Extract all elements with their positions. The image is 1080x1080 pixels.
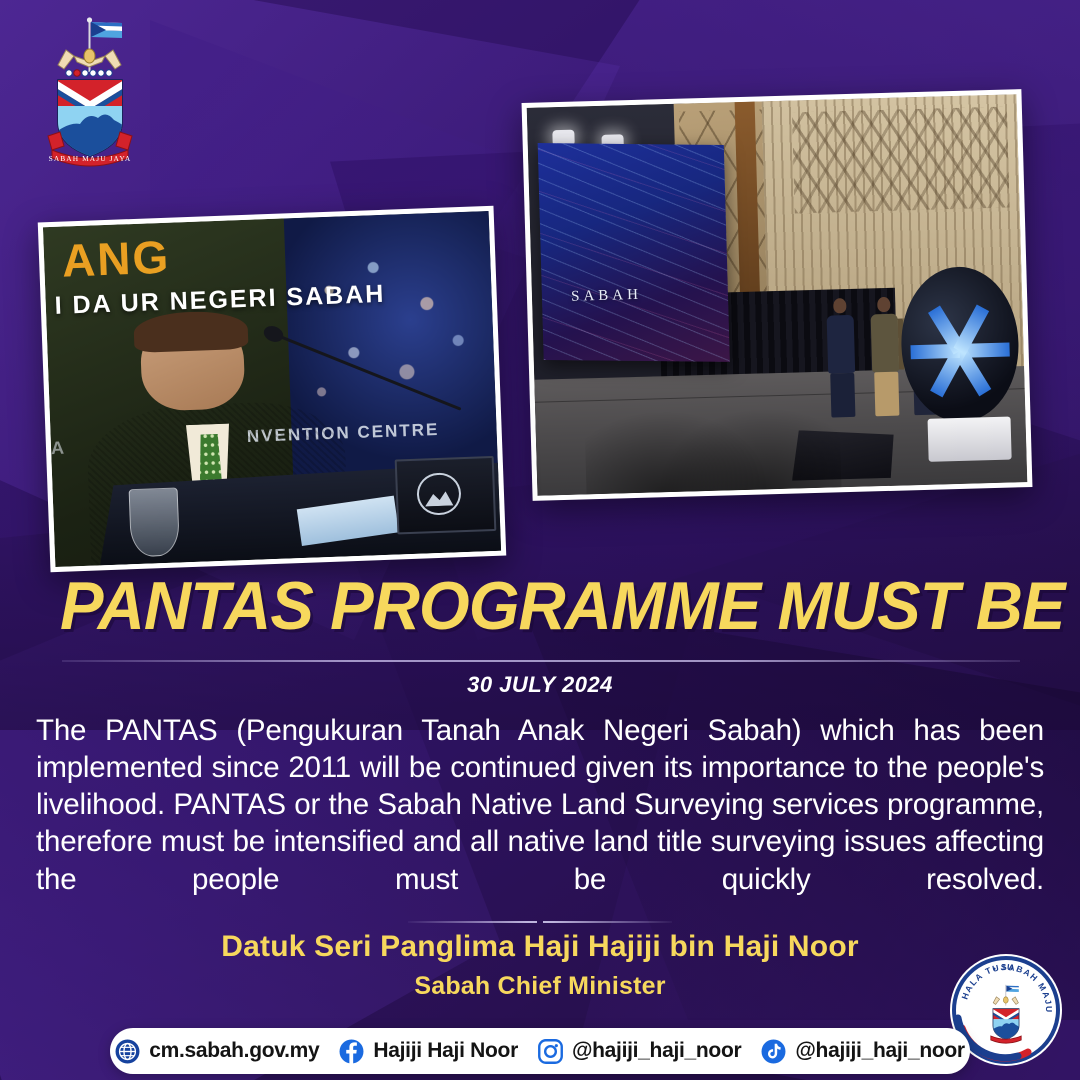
tiktok-icon: [761, 1039, 786, 1064]
globe-icon: [115, 1039, 140, 1064]
footer-label-instagram: @hajiji_haji_noor: [572, 1039, 741, 1063]
water-glass: [128, 488, 180, 558]
crest-motto: SABAH MAJU JAYA: [49, 154, 132, 163]
facebook-icon: [339, 1039, 364, 1064]
quote-body: The PANTAS (Pengukuran Tanah Anak Negeri…: [36, 712, 1044, 935]
backdrop-top-text: ANG: [61, 223, 357, 288]
footer-label-tiktok: @hajiji_haji_noor: [795, 1039, 964, 1063]
publish-date: 30 JULY 2024: [0, 672, 1080, 698]
footer-label-facebook: Hajiji Haji Noor: [373, 1039, 518, 1063]
quote-paragraph: The PANTAS (Pengukuran Tanah Anak Negeri…: [36, 712, 1044, 935]
attribution-name: Datuk Seri Panglima Haji Hajiji bin Haji…: [0, 930, 1080, 964]
headline-divider: [62, 660, 1020, 662]
attribution-divider: [408, 921, 672, 923]
led-screen-text: SABAH: [571, 287, 642, 306]
backdrop-line-3: A: [51, 437, 67, 459]
sabah-state-crest-icon: SABAH MAJU JAYA: [36, 14, 144, 170]
attribution-role: Sabah Chief Minister: [0, 972, 1080, 1001]
footer-label-website: cm.sabah.gov.my: [149, 1039, 319, 1063]
instagram-icon: [538, 1039, 563, 1064]
podium-monitor: [395, 456, 496, 534]
footer-item-instagram[interactable]: @hajiji_haji_noor: [538, 1039, 741, 1064]
led-screen: [537, 143, 729, 362]
footer-item-website[interactable]: cm.sabah.gov.my: [115, 1039, 319, 1064]
photo-speaker: ANG I DA UR NEGERI SABAH NVENTION CENTRE…: [38, 206, 507, 572]
footer-item-tiktok[interactable]: @hajiji_haji_noor: [761, 1039, 964, 1064]
footer-contact-bar: cm.sabah.gov.my Hajiji Haji Noor @hajiji…: [110, 1028, 970, 1074]
photo-stage: SABAH: [522, 89, 1033, 501]
page-title: PANTAS PROGRAMME MUST BE INTENSIFIED: [60, 572, 982, 640]
stage-person: [870, 297, 900, 417]
footer-item-facebook[interactable]: Hajiji Haji Noor: [339, 1039, 518, 1064]
poster-canvas: SABAH MAJU JAYA SABAH: [0, 0, 1080, 1080]
